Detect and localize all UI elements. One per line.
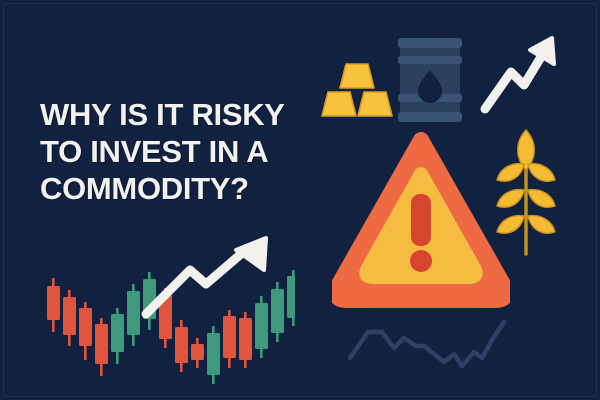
poster-canvas: WHY IS IT RISKY TO INVEST IN A COMMODITY… — [0, 0, 600, 400]
candle-11 — [207, 326, 220, 384]
candle-4 — [95, 318, 108, 376]
candle-10 — [191, 338, 204, 368]
headline-line-2: TO INVEST IN A — [40, 133, 340, 170]
candle-16 — [287, 270, 295, 326]
faint-line-chart-icon — [348, 310, 588, 390]
rising-arrow-overlay-icon — [140, 236, 280, 326]
candle-5 — [111, 308, 124, 364]
warning-triangle-icon — [332, 130, 510, 310]
candle-2 — [63, 290, 76, 346]
headline-line-1: WHY IS IT RISKY — [40, 96, 340, 133]
page-title: WHY IS IT RISKY TO INVEST IN A COMMODITY… — [40, 96, 340, 207]
trend-arrow-icon — [478, 30, 560, 114]
candle-9 — [175, 320, 188, 372]
candle-3 — [79, 302, 92, 360]
candle-1 — [47, 278, 60, 332]
oil-barrel-icon — [396, 34, 464, 126]
headline-line-3: COMMODITY? — [40, 170, 340, 207]
candle-6 — [127, 284, 140, 346]
